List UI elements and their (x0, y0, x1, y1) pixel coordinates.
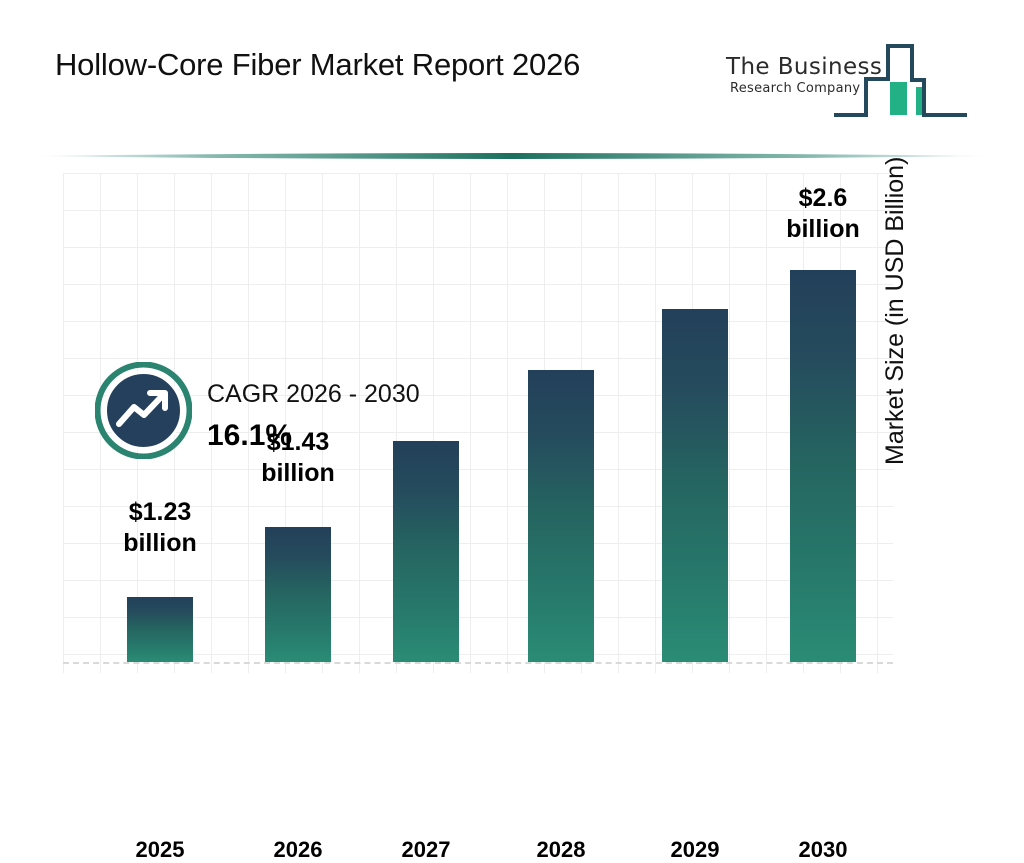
xtick-2029: 2029 (635, 837, 755, 863)
xtick-2028: 2028 (501, 837, 621, 863)
value-label-2030: $2.6 billion (758, 183, 888, 244)
bar-2026[interactable] (265, 527, 331, 662)
page-title: Hollow-Core Fiber Market Report 2026 (55, 47, 580, 83)
trending-up-arrow-icon (95, 362, 192, 459)
bar-2025[interactable] (127, 597, 193, 662)
cagr-period-label: CAGR 2026 - 2030 (207, 380, 420, 409)
company-logo: The Business Research Company (724, 32, 969, 122)
axis-baseline (63, 662, 893, 664)
bar-chart: $1.23 billion $1.43 billion $2.6 billion… (0, 163, 1024, 768)
bar-2030[interactable] (790, 270, 856, 662)
value-label-2025-amount: $1.23 (95, 497, 225, 528)
header: Hollow-Core Fiber Market Report 2026 The… (0, 0, 1024, 145)
y-axis-label: Market Size (in USD Billion) (881, 65, 921, 465)
xtick-2027: 2027 (366, 837, 486, 863)
value-label-2025-unit: billion (95, 528, 225, 559)
cagr-value-label: 16.1% (207, 419, 292, 453)
bar-2029[interactable] (662, 309, 728, 662)
value-label-2030-unit: billion (758, 214, 888, 245)
xtick-2025: 2025 (100, 837, 220, 863)
bar-2028[interactable] (528, 370, 594, 662)
section-divider (32, 150, 992, 162)
value-label-2025: $1.23 billion (95, 497, 225, 558)
cagr-badge: CAGR 2026 - 2030 16.1% (95, 362, 495, 472)
xtick-2030: 2030 (763, 837, 883, 863)
xtick-2026: 2026 (238, 837, 358, 863)
bar-2027[interactable] (393, 441, 459, 662)
value-label-2030-amount: $2.6 (758, 183, 888, 214)
infographic-canvas: Hollow-Core Fiber Market Report 2026 The… (0, 0, 1024, 768)
